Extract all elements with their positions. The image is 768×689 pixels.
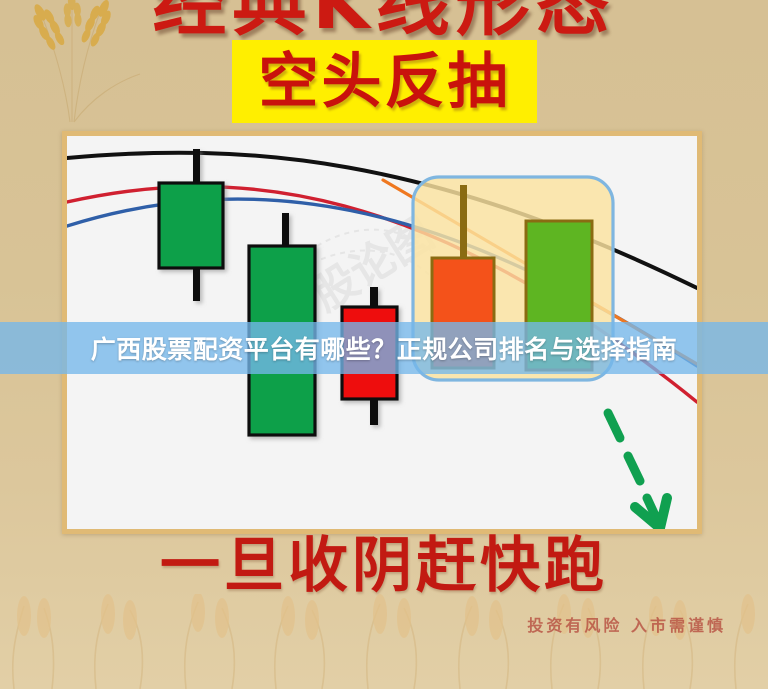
risk-disclaimer: 投资有风险 入市需谨慎	[527, 612, 726, 636]
poster-root: 经典K线形态 空头反抽 股论图	[0, 0, 768, 689]
candle-1-bullish	[159, 149, 223, 301]
wheat-decoration-bottom	[0, 594, 768, 689]
article-title-text: 广西股票配资平台有哪些？正规公司排名与选择指南	[91, 330, 678, 366]
article-title-banner: 广西股票配资平台有哪些？正规公司排名与选择指南	[0, 322, 768, 374]
headline-subtitle-text: 空头反抽	[259, 52, 511, 112]
headline-top: 经典K线形态	[0, 0, 768, 40]
headline-bottom: 一旦收阴赶快跑	[0, 535, 768, 598]
headline-subtitle-banner: 空头反抽	[232, 40, 537, 123]
down-arrow-icon	[608, 413, 667, 528]
